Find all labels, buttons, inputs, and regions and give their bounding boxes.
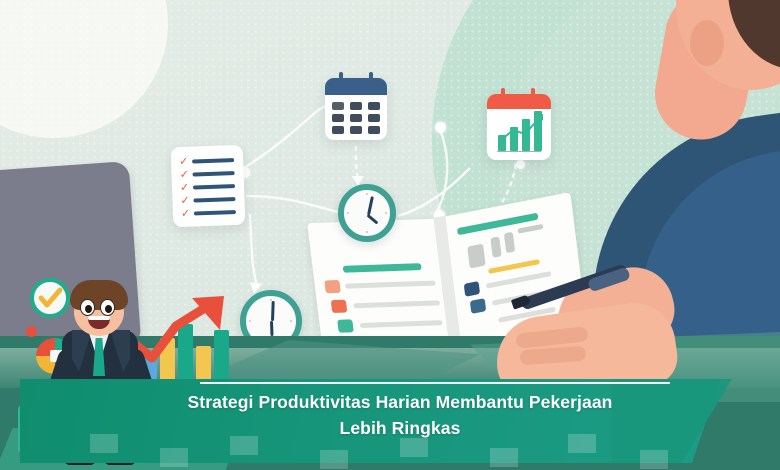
hero-illustration: ✓ ✓ ✓ ✓ ✓	[0, 0, 780, 470]
notebook-checkbox	[324, 280, 341, 293]
checklist-bar	[193, 171, 235, 176]
calendar-header	[325, 78, 387, 95]
clock-hour-hand	[270, 321, 274, 336]
notebook-block	[504, 232, 515, 254]
clock-minute-hand	[367, 196, 373, 215]
checklist-bar	[193, 184, 235, 189]
person-ear	[690, 20, 724, 66]
checklist-card-icon: ✓ ✓ ✓ ✓ ✓	[171, 145, 246, 227]
notebook-line	[486, 271, 552, 289]
calendar-icon	[325, 78, 387, 140]
notebook-line	[353, 300, 440, 308]
clock-hour-hand	[367, 214, 379, 225]
notebook-highlight-line	[488, 259, 540, 274]
notebook-checkbox	[331, 300, 348, 313]
clock-check-badge-icon	[30, 278, 70, 318]
mascot-teeth	[88, 316, 110, 320]
calendar-cell	[368, 114, 380, 122]
chart-calendar-header	[487, 94, 551, 109]
calendar-cell	[350, 114, 362, 122]
chart-trend-arrow-icon	[495, 112, 545, 146]
bar-chart-calendar-icon	[487, 94, 551, 160]
notebook-checkbox	[337, 319, 354, 332]
bottom-mosaic-overlay	[20, 432, 720, 470]
clock-icon	[338, 184, 396, 242]
calendar-cell	[368, 102, 380, 110]
notebook-block	[490, 236, 501, 258]
check-icon: ✓	[181, 209, 190, 218]
calendar-cell	[332, 114, 344, 122]
check-icon: ✓	[179, 157, 188, 166]
calendar-cell	[350, 102, 362, 110]
mascot-hair	[70, 280, 128, 310]
page-title-line-1: Strategi Produktivitas Harian Membantu P…	[120, 389, 680, 415]
notebook-block	[517, 224, 543, 234]
mascot-eye	[100, 299, 115, 316]
connector-node	[516, 160, 525, 169]
check-icon: ✓	[180, 196, 189, 205]
checklist-bar	[192, 158, 234, 163]
checklist-bar	[193, 197, 235, 202]
connector-node	[435, 122, 446, 133]
mascot-eye	[80, 299, 95, 316]
notebook-line	[345, 281, 436, 289]
notebook-block	[467, 244, 485, 269]
decor-sphere	[26, 326, 37, 337]
notebook-highlight-line	[343, 263, 422, 273]
notebook-checkbox	[470, 298, 486, 314]
notebook-line	[360, 320, 443, 328]
checklist-bar	[194, 210, 236, 215]
calendar-cell	[350, 126, 362, 134]
calendar-cell	[332, 102, 344, 110]
notebook-checkbox	[464, 281, 480, 297]
clock-minute-hand	[271, 301, 274, 321]
calendar-cell	[368, 126, 380, 134]
check-icon: ✓	[179, 170, 188, 179]
title-banner-rule	[200, 382, 670, 384]
calendar-cell	[332, 126, 344, 134]
check-icon: ✓	[180, 183, 189, 192]
